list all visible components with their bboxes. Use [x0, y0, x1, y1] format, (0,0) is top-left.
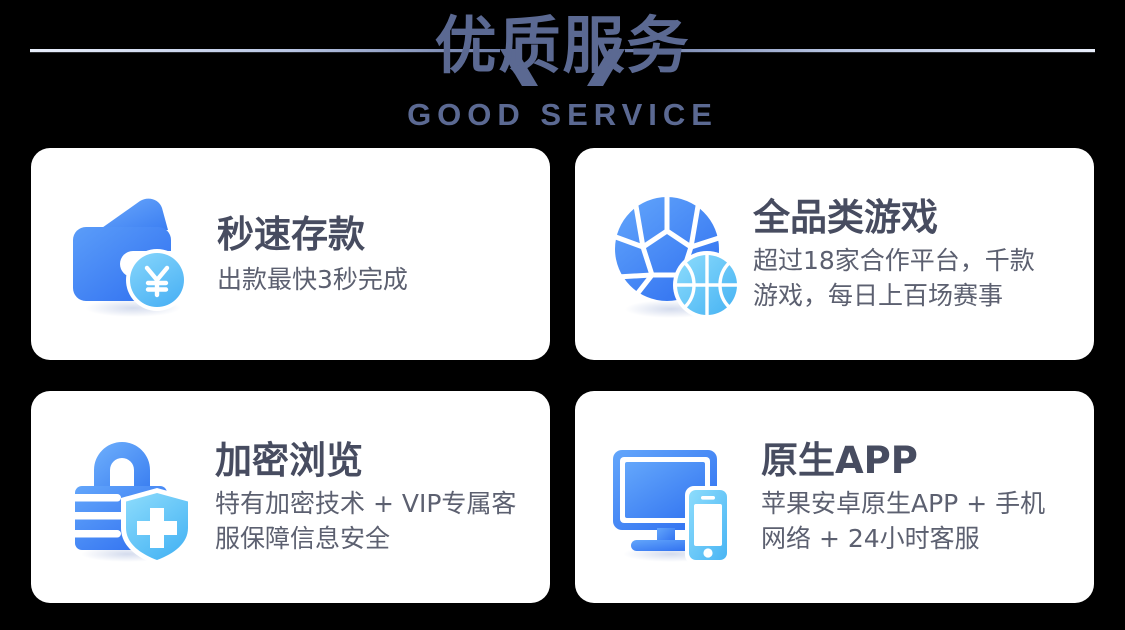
card-subtitle-line: 网络 + 24小时客服 [761, 521, 1082, 556]
card-text-app: 原生APP 苹果安卓原生APP + 手机 网络 + 24小时客服 [743, 438, 1094, 556]
card-text-secure: 加密浏览 特有加密技术 + VIP专属客 服保障信息安全 [199, 438, 550, 556]
lock-shield-icon [61, 428, 199, 566]
card-subtitle-line: 出款最快3秒完成 [217, 262, 538, 297]
card-subtitle-line: 游戏，每日上百场赛事 [753, 278, 1082, 313]
card-title: 秒速存款 [217, 212, 538, 258]
card-title: 加密浏览 [215, 438, 538, 484]
soccer-basketball-icon [605, 185, 743, 323]
card-title: 全品类游戏 [753, 195, 1082, 241]
card-text-deposit: 秒速存款 出款最快3秒完成 [199, 212, 550, 297]
page-title: 优质服务 [0, 8, 1125, 84]
feature-card-deposit[interactable]: 秒速存款 出款最快3秒完成 [31, 148, 550, 360]
card-subtitle: 超过18家合作平台，千款 游戏，每日上百场赛事 [753, 243, 1082, 313]
card-subtitle: 苹果安卓原生APP + 手机 网络 + 24小时客服 [761, 486, 1082, 556]
feature-card-secure[interactable]: 加密浏览 特有加密技术 + VIP专属客 服保障信息安全 [31, 391, 550, 603]
card-subtitle-line: 特有加密技术 + VIP专属客 [215, 486, 538, 521]
feature-card-games[interactable]: 全品类游戏 超过18家合作平台，千款 游戏，每日上百场赛事 [575, 148, 1094, 360]
card-subtitle: 特有加密技术 + VIP专属客 服保障信息安全 [215, 486, 538, 556]
card-title: 原生APP [761, 438, 1082, 484]
monitor-phone-icon [605, 428, 743, 566]
card-subtitle-line: 超过18家合作平台，千款 [753, 243, 1082, 278]
page-header: 优质服务 GOOD SERVICE [0, 0, 1125, 148]
page-subtitle: GOOD SERVICE [0, 96, 1125, 134]
card-subtitle-line: 服保障信息安全 [215, 521, 538, 556]
feature-card-grid: 秒速存款 出款最快3秒完成 [31, 148, 1094, 603]
card-text-games: 全品类游戏 超过18家合作平台，千款 游戏，每日上百场赛事 [743, 195, 1094, 313]
card-subtitle: 出款最快3秒完成 [217, 262, 538, 297]
wallet-yen-icon [61, 185, 199, 323]
card-subtitle-line: 苹果安卓原生APP + 手机 [761, 486, 1082, 521]
feature-card-app[interactable]: 原生APP 苹果安卓原生APP + 手机 网络 + 24小时客服 [575, 391, 1094, 603]
